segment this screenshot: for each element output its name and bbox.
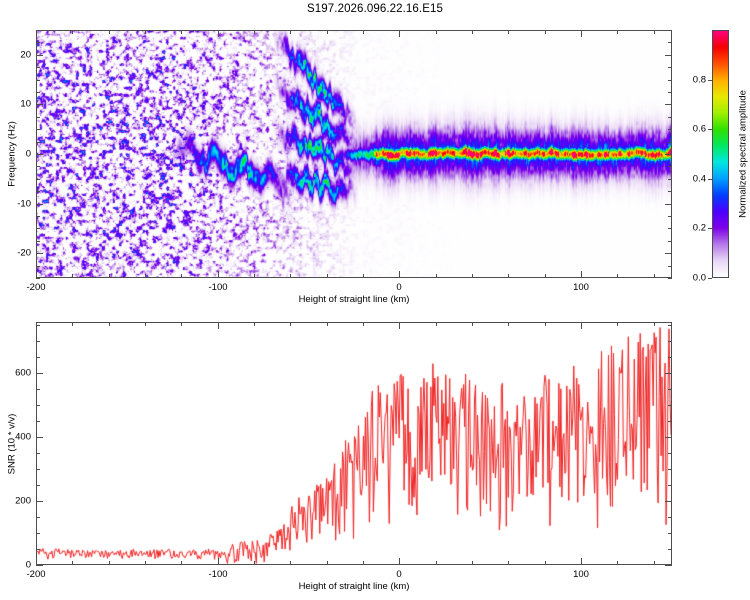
y-major-tick [36,373,43,374]
x-minor-tick [72,322,73,326]
y-minor-tick [36,179,40,180]
y-minor-tick [36,421,40,422]
y-minor-tick [668,42,672,43]
y-minor-tick [36,30,40,31]
y-minor-tick [36,142,40,143]
y-minor-tick [668,421,672,422]
x-minor-tick [508,561,509,565]
y-minor-tick [668,453,672,454]
x-minor-tick [363,561,364,565]
x-major-tick [581,271,582,278]
y-major-tick [665,204,672,205]
y-tick-label: -10 [0,199,31,210]
y-minor-tick [668,266,672,267]
y-major-tick [665,501,672,502]
x-minor-tick [508,30,509,34]
x-major-tick [218,271,219,278]
y-minor-tick [668,405,672,406]
colorbar-tick-label: 0.2 [672,223,706,234]
x-minor-tick [109,561,110,565]
y-minor-tick [36,266,40,267]
y-minor-tick [668,485,672,486]
snr-trace [37,323,671,564]
x-major-tick [36,271,37,278]
colorbar-gradient [713,31,728,277]
x-axis-title: Height of straight line (km) [299,581,410,592]
x-major-tick [399,30,400,37]
x-minor-tick [436,274,437,278]
y-axis-title: Frequency (Hz) [7,121,18,186]
x-minor-tick [290,274,291,278]
colorbar-tick [708,80,712,81]
x-minor-tick [654,322,655,326]
y-minor-tick [668,325,672,326]
x-minor-tick [72,30,73,34]
y-minor-tick [36,549,40,550]
y-minor-tick [668,357,672,358]
y-axis-title: SNR (10 * v/v) [7,413,18,474]
x-minor-tick [363,30,364,34]
colorbar-tick-label: 0.4 [672,174,706,185]
y-minor-tick [668,166,672,167]
x-minor-tick [545,322,546,326]
x-minor-tick [545,30,546,34]
x-tick-label: -200 [26,569,45,580]
x-minor-tick [508,322,509,326]
y-minor-tick [668,216,672,217]
y-minor-tick [36,92,40,93]
y-minor-tick [668,341,672,342]
y-major-tick [36,565,43,566]
spectrogram-image [37,31,671,277]
y-minor-tick [668,30,672,31]
y-major-tick [665,253,672,254]
x-minor-tick [327,322,328,326]
spectrogram-panel [36,30,672,278]
figure-title: S197.2026.096.22.16.E15 [0,3,750,15]
x-minor-tick [436,561,437,565]
y-minor-tick [668,517,672,518]
x-major-tick [218,322,219,329]
x-major-tick [36,558,37,565]
x-minor-tick [472,30,473,34]
y-minor-tick [668,67,672,68]
y-minor-tick [36,278,40,279]
y-major-tick [36,154,43,155]
y-minor-tick [36,216,40,217]
x-minor-tick [654,274,655,278]
x-tick-label: 0 [396,569,401,580]
snr-panel [36,322,672,565]
x-minor-tick [109,30,110,34]
x-minor-tick [363,322,364,326]
y-minor-tick [36,485,40,486]
x-minor-tick [472,274,473,278]
x-minor-tick [109,322,110,326]
x-tick-label: 100 [573,569,589,580]
y-tick-label: 600 [0,368,31,379]
y-major-tick [36,204,43,205]
x-minor-tick [327,274,328,278]
x-minor-tick [617,561,618,565]
x-major-tick [218,558,219,565]
y-minor-tick [36,389,40,390]
y-major-tick [665,154,672,155]
y-minor-tick [36,117,40,118]
x-major-tick [581,322,582,329]
x-minor-tick [363,274,364,278]
x-major-tick [581,30,582,37]
x-minor-tick [617,274,618,278]
y-tick-label: -20 [0,248,31,259]
y-tick-label: 0 [0,560,31,571]
x-tick-label: 0 [396,282,401,293]
y-major-tick [665,565,672,566]
colorbar-tick-label: 0.0 [672,273,706,284]
x-minor-tick [181,274,182,278]
y-minor-tick [36,67,40,68]
x-tick-label: -100 [208,569,227,580]
y-major-tick [665,55,672,56]
x-minor-tick [472,561,473,565]
x-minor-tick [327,30,328,34]
y-minor-tick [36,80,40,81]
y-minor-tick [36,325,40,326]
colorbar-tick-label: 0.6 [672,124,706,135]
x-minor-tick [617,30,618,34]
colorbar-tick-label: 0.8 [672,75,706,86]
x-minor-tick [145,322,146,326]
x-major-tick [399,322,400,329]
x-tick-label: -100 [208,282,227,293]
x-major-tick [581,558,582,565]
y-major-tick [665,104,672,105]
x-minor-tick [72,561,73,565]
y-major-tick [36,437,43,438]
y-minor-tick [36,166,40,167]
y-minor-tick [668,469,672,470]
colorbar-tick [708,228,712,229]
x-tick-label: -200 [26,282,45,293]
x-minor-tick [290,322,291,326]
x-minor-tick [436,322,437,326]
x-minor-tick [181,561,182,565]
colorbar-title: Normalized spectral amplitude [738,90,749,218]
colorbar-tick [708,179,712,180]
y-major-tick [36,501,43,502]
y-minor-tick [36,191,40,192]
y-minor-tick [36,469,40,470]
x-minor-tick [72,274,73,278]
y-tick-label: 10 [0,99,31,110]
x-minor-tick [254,274,255,278]
x-minor-tick [181,30,182,34]
x-minor-tick [254,30,255,34]
y-tick-label: 200 [0,496,31,507]
x-minor-tick [145,274,146,278]
x-axis-title: Height of straight line (km) [299,294,410,305]
y-minor-tick [668,92,672,93]
y-major-tick [36,104,43,105]
x-minor-tick [145,30,146,34]
y-major-tick [36,253,43,254]
x-minor-tick [508,274,509,278]
x-tick-label: 100 [573,282,589,293]
x-minor-tick [109,274,110,278]
y-minor-tick [36,129,40,130]
y-minor-tick [36,228,40,229]
y-minor-tick [668,117,672,118]
x-minor-tick [327,561,328,565]
y-minor-tick [36,533,40,534]
x-major-tick [399,271,400,278]
x-minor-tick [290,30,291,34]
y-minor-tick [668,142,672,143]
y-minor-tick [668,191,672,192]
x-minor-tick [254,561,255,565]
y-major-tick [36,55,43,56]
x-minor-tick [436,30,437,34]
x-minor-tick [472,322,473,326]
x-minor-tick [654,561,655,565]
x-minor-tick [145,561,146,565]
x-minor-tick [290,561,291,565]
x-major-tick [399,558,400,565]
y-minor-tick [36,517,40,518]
y-minor-tick [668,241,672,242]
x-major-tick [36,30,37,37]
x-major-tick [218,30,219,37]
colorbar-tick [708,129,712,130]
x-minor-tick [545,274,546,278]
y-major-tick [665,437,672,438]
y-minor-tick [668,549,672,550]
x-minor-tick [181,322,182,326]
y-minor-tick [36,357,40,358]
x-minor-tick [254,322,255,326]
y-minor-tick [36,405,40,406]
y-minor-tick [36,42,40,43]
y-minor-tick [36,453,40,454]
y-major-tick [665,373,672,374]
figure-root: S197.2026.096.22.16.E15 -200-1000100-20-… [0,0,750,600]
x-minor-tick [545,561,546,565]
y-minor-tick [36,341,40,342]
y-minor-tick [668,389,672,390]
colorbar [712,30,729,278]
x-minor-tick [654,30,655,34]
y-tick-label: 20 [0,50,31,61]
x-minor-tick [617,322,618,326]
y-minor-tick [668,533,672,534]
colorbar-tick [708,278,712,279]
y-minor-tick [36,241,40,242]
